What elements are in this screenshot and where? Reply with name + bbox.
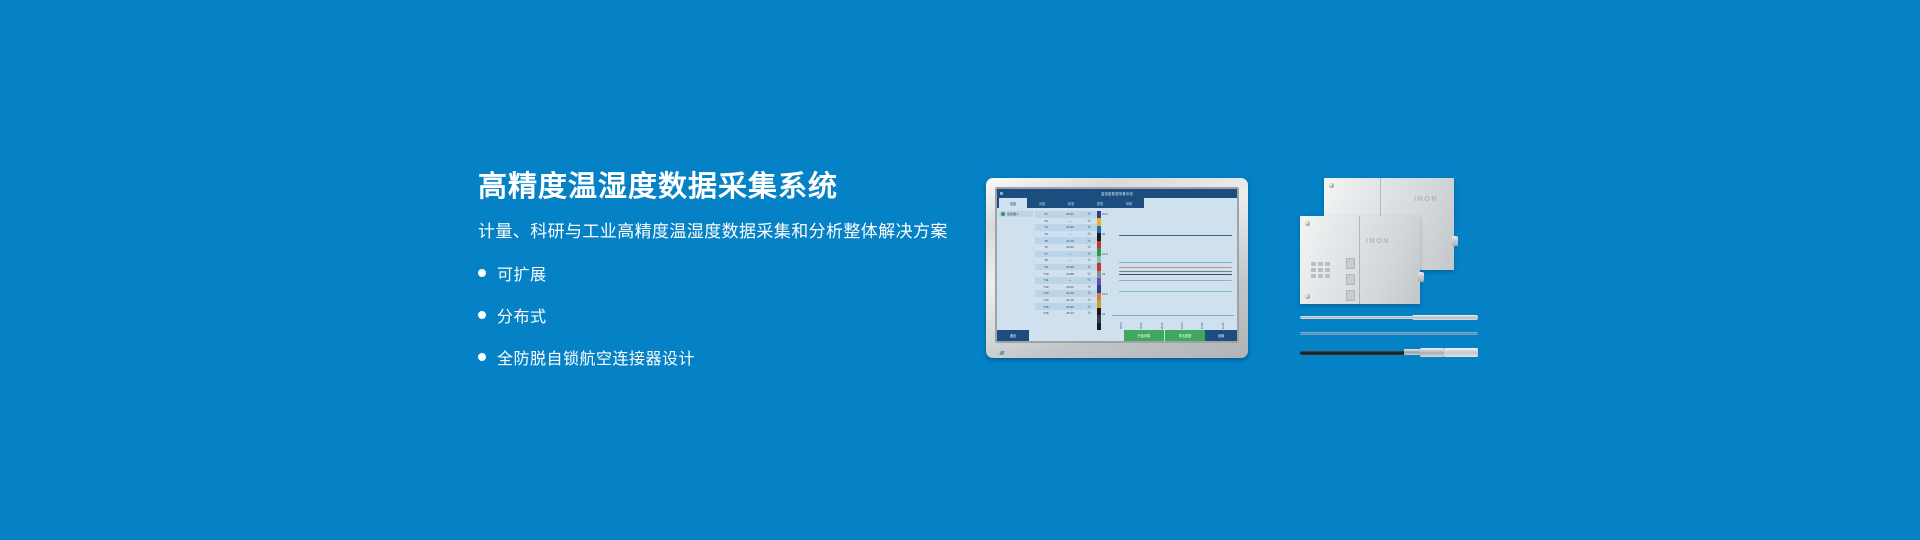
- table-cell-unit: ℃: [1083, 245, 1095, 249]
- legend-color-swatch: [1097, 315, 1101, 322]
- table-cell-unit: ℃: [1083, 291, 1095, 295]
- enclosure-seam: [1359, 216, 1360, 304]
- monitor-inner-frame: 温湿度数据采集系统 测量 设置 校准 报表 帮助 采集器-1: [995, 187, 1239, 343]
- brand-label: INON: [1366, 238, 1390, 245]
- legend-color-swatch: [1097, 263, 1101, 270]
- table-cell-unit: ℃: [1083, 278, 1095, 282]
- table-cell-unit: ℃: [1083, 239, 1095, 243]
- monitor-stand-foot: [1000, 351, 1012, 356]
- table-cell-ch: T7: [1035, 252, 1057, 256]
- table-cell-value: 25.01: [1057, 212, 1083, 216]
- table-row[interactable]: T324.99℃: [1035, 224, 1097, 231]
- port-icon: [1311, 274, 1316, 278]
- tab-help[interactable]: 帮助: [1115, 198, 1143, 208]
- table-cell-unit: ℃: [1083, 232, 1095, 236]
- tab-calibration[interactable]: 校准: [1057, 198, 1085, 208]
- connector-port: [1418, 272, 1424, 282]
- y-tick-label: 25: [1102, 232, 1111, 236]
- x-tick-label: 09:00: [1121, 316, 1124, 329]
- feature-label: 分布式: [497, 303, 547, 327]
- sidebar-item-label: 采集器-1: [1007, 212, 1019, 216]
- legend-color-swatch: [1097, 285, 1101, 292]
- legend-color-swatch: [1097, 211, 1101, 218]
- table-cell-ch: T13: [1035, 291, 1057, 295]
- table-row[interactable]: T1225.02℃: [1035, 284, 1097, 291]
- table-cell-ch: T11: [1035, 278, 1057, 282]
- table-row[interactable]: T7---℃: [1035, 251, 1097, 258]
- legend-color-swatch: [1097, 293, 1101, 300]
- table-row[interactable]: T4---℃: [1035, 231, 1097, 238]
- brand-label: INON: [1414, 196, 1438, 203]
- x-tick-label: 09:40: [1162, 316, 1165, 329]
- table-cell-ch: T6: [1035, 245, 1057, 249]
- table-cell-value: ---: [1057, 252, 1083, 256]
- table-cell-unit: ℃: [1083, 285, 1095, 289]
- tab-settings[interactable]: 设置: [1028, 198, 1056, 208]
- export-data-button[interactable]: 导出数据: [1165, 330, 1205, 341]
- table-cell-ch: T16: [1035, 311, 1057, 315]
- y-tick-label: 24: [1102, 272, 1111, 276]
- legend-color-swatch: [1097, 233, 1101, 240]
- series-color-legend: [1097, 211, 1101, 330]
- tab-report[interactable]: 报表: [1086, 198, 1114, 208]
- trend-chart: 25.52524.52423.523 09:0009:2009:4010:001…: [1102, 211, 1235, 330]
- monitor-device: 温湿度数据采集系统 测量 设置 校准 报表 帮助 采集器-1: [986, 178, 1248, 358]
- terminal-icon: [1346, 290, 1355, 301]
- screen-body: 采集器-1 T125.01℃T2---℃T324.99℃T4---℃T524.1…: [997, 208, 1237, 330]
- legend-color-swatch: [1097, 308, 1101, 315]
- table-row[interactable]: T524.12℃: [1035, 237, 1097, 244]
- chart-series-line: [1119, 274, 1231, 275]
- probe-ferrule-icon: [1404, 349, 1420, 355]
- exit-button[interactable]: 退出: [997, 330, 1029, 341]
- table-cell-value: 24.90: [1057, 305, 1083, 309]
- table-cell-ch: T15: [1035, 305, 1057, 309]
- table-cell-unit: ℃: [1083, 298, 1095, 302]
- bullet-icon: [478, 311, 486, 319]
- table-cell-ch: T5: [1035, 239, 1057, 243]
- tab-measure[interactable]: 测量: [999, 198, 1027, 208]
- table-cell-value: 25.03: [1057, 245, 1083, 249]
- list-item: 分布式: [478, 303, 998, 327]
- legend-color-swatch: [1097, 256, 1101, 263]
- table-cell-value: ---: [1057, 258, 1083, 262]
- x-axis-labels: 09:0009:2009:4010:0010:2010:40: [1112, 315, 1234, 329]
- y-tick-label: 25.5: [1102, 212, 1111, 216]
- port-icon: [1318, 268, 1323, 272]
- port-icon: [1311, 262, 1316, 266]
- table-cell-unit: ℃: [1083, 225, 1095, 229]
- monitor-indicator-icon: [999, 351, 1004, 355]
- table-cell-unit: ℃: [1083, 258, 1095, 262]
- y-tick-label: 23: [1102, 312, 1111, 316]
- legend-color-swatch: [1097, 226, 1101, 233]
- chart-series-line: [1119, 280, 1231, 281]
- probe-cable: [1300, 316, 1418, 319]
- table-row[interactable]: T2---℃: [1035, 218, 1097, 225]
- table-cell-ch: T10: [1035, 272, 1057, 276]
- chart-plot-area: [1112, 212, 1234, 316]
- chart-series-line: [1119, 267, 1231, 268]
- device-tree-sidebar: 采集器-1: [997, 208, 1035, 330]
- channel-table: T125.01℃T2---℃T324.99℃T4---℃T524.12℃T625…: [1035, 208, 1097, 330]
- table-row[interactable]: T625.03℃: [1035, 244, 1097, 251]
- y-tick-label: 23.5: [1102, 292, 1111, 296]
- table-row[interactable]: T924.98℃: [1035, 264, 1097, 271]
- feature-list: 可扩展 分布式 全防脱自锁航空连接器设计: [478, 261, 998, 369]
- table-cell-unit: ℃: [1083, 219, 1095, 223]
- page-title: 高精度温湿度数据采集系统: [478, 170, 998, 205]
- terminal-block: [1346, 258, 1355, 301]
- table-cell-value: 24.12: [1057, 239, 1083, 243]
- table-cell-value: ---: [1057, 232, 1083, 236]
- footer-spacer: [1029, 330, 1123, 341]
- table-cell-value: 24.15: [1057, 298, 1083, 302]
- table-row[interactable]: T125.01℃: [1035, 211, 1097, 218]
- legend-color-swatch: [1097, 218, 1101, 225]
- x-tick-label: 10:00: [1182, 316, 1185, 329]
- table-cell-ch: T1: [1035, 212, 1057, 216]
- table-cell-unit: ℃: [1083, 305, 1095, 309]
- table-row[interactable]: T1524.90℃: [1035, 303, 1097, 310]
- table-row[interactable]: T1024.88℃: [1035, 270, 1097, 277]
- table-cell-value: 25.02: [1057, 285, 1083, 289]
- monitor-screen: 温湿度数据采集系统 测量 设置 校准 报表 帮助 采集器-1: [997, 189, 1237, 341]
- table-cell-ch: T14: [1035, 298, 1057, 302]
- status-dot-icon: [1001, 212, 1005, 216]
- feature-label: 全防脱自锁航空连接器设计: [497, 345, 695, 369]
- screw-icon: [1305, 221, 1310, 226]
- start-acquisition-button[interactable]: 开始采集: [1124, 330, 1164, 341]
- table-cell-unit: ℃: [1083, 212, 1095, 216]
- port-icon: [1325, 262, 1330, 266]
- port-grid: [1311, 262, 1330, 278]
- legend-color-swatch: [1097, 248, 1101, 255]
- app-logo-icon: [1000, 192, 1003, 195]
- table-cell-ch: T2: [1035, 219, 1057, 223]
- terminal-icon: [1346, 274, 1355, 285]
- banner-copy: 高精度温湿度数据采集系统 计量、科研与工业高精度温湿度数据采集和分析整体解决方案…: [478, 170, 998, 387]
- probe-tip-icon: [1412, 315, 1478, 320]
- enclosure-front: INON: [1300, 216, 1420, 304]
- table-cell-ch: T8: [1035, 258, 1057, 262]
- x-tick-label: 10:20: [1202, 316, 1205, 329]
- screen-tab-bar: 测量 设置 校准 报表 帮助: [997, 198, 1237, 208]
- screen-footer-bar: 退出 开始采集 导出数据 设置: [997, 330, 1237, 341]
- y-tick-label: 24.5: [1102, 252, 1111, 256]
- table-cell-ch: T3: [1035, 225, 1057, 229]
- table-row[interactable]: T8---℃: [1035, 257, 1097, 264]
- port-icon: [1325, 274, 1330, 278]
- list-item: 全防脱自锁航空连接器设计: [478, 345, 998, 369]
- table-cell-value: ---: [1057, 219, 1083, 223]
- table-cell-unit: ℃: [1083, 252, 1095, 256]
- chart-series-line: [1119, 271, 1231, 272]
- table-cell-value: 25.14: [1057, 311, 1083, 315]
- y-axis-labels: 25.52524.52423.523: [1102, 211, 1111, 330]
- port-icon: [1318, 262, 1323, 266]
- port-icon: [1325, 268, 1330, 272]
- table-cell-value: 24.99: [1057, 225, 1083, 229]
- sensor-probes: [1300, 312, 1480, 364]
- legend-color-swatch: [1097, 300, 1101, 307]
- product-banner: 高精度温湿度数据采集系统 计量、科研与工业高精度温湿度数据采集和分析整体解决方案…: [0, 0, 1920, 540]
- table-cell-value: 24.88: [1057, 272, 1083, 276]
- probe-filter-icon: [1444, 348, 1478, 357]
- probe-cable: [1300, 351, 1406, 355]
- chart-series-line: [1119, 291, 1231, 292]
- bullet-icon: [478, 269, 486, 277]
- bullet-icon: [478, 353, 486, 361]
- port-icon: [1311, 268, 1316, 272]
- legend-color-swatch: [1097, 323, 1101, 330]
- screw-icon: [1329, 183, 1334, 188]
- table-row[interactable]: T1324.29℃: [1035, 290, 1097, 297]
- x-tick-label: 10:40: [1223, 316, 1226, 329]
- table-cell-unit: ℃: [1083, 272, 1095, 276]
- sidebar-item-collector[interactable]: 采集器-1: [999, 211, 1033, 217]
- tab-bar-filler: [1144, 198, 1237, 208]
- list-item: 可扩展: [478, 261, 998, 285]
- table-row[interactable]: T1424.15℃: [1035, 297, 1097, 304]
- legend-color-swatch: [1097, 278, 1101, 285]
- screen-title: 温湿度数据采集系统: [1101, 191, 1133, 196]
- table-cell-value: 24.29: [1057, 291, 1083, 295]
- table-row[interactable]: T11---℃: [1035, 277, 1097, 284]
- legend-color-swatch: [1097, 271, 1101, 278]
- table-cell-unit: ℃: [1083, 311, 1095, 315]
- settings-button[interactable]: 设置: [1205, 330, 1237, 341]
- table-cell-value: 24.98: [1057, 265, 1083, 269]
- probe-body-icon: [1420, 348, 1444, 357]
- table-cell-ch: T9: [1035, 265, 1057, 269]
- table-row[interactable]: T1625.14℃: [1035, 310, 1097, 317]
- chart-series-line: [1119, 235, 1231, 236]
- table-cell-unit: ℃: [1083, 265, 1095, 269]
- probe-cable: [1300, 332, 1478, 335]
- page-subtitle: 计量、科研与工业高精度温湿度数据采集和分析整体解决方案: [478, 221, 998, 243]
- chart-series-line: [1119, 262, 1231, 263]
- table-cell-value: ---: [1057, 278, 1083, 282]
- connector-port: [1452, 236, 1458, 246]
- feature-label: 可扩展: [497, 261, 547, 285]
- table-cell-ch: T12: [1035, 285, 1057, 289]
- legend-color-swatch: [1097, 241, 1101, 248]
- x-tick-label: 09:20: [1141, 316, 1144, 329]
- table-cell-ch: T4: [1035, 232, 1057, 236]
- screen-titlebar: 温湿度数据采集系统: [997, 189, 1237, 198]
- port-icon: [1318, 274, 1323, 278]
- terminal-icon: [1346, 258, 1355, 269]
- screw-icon: [1305, 294, 1310, 299]
